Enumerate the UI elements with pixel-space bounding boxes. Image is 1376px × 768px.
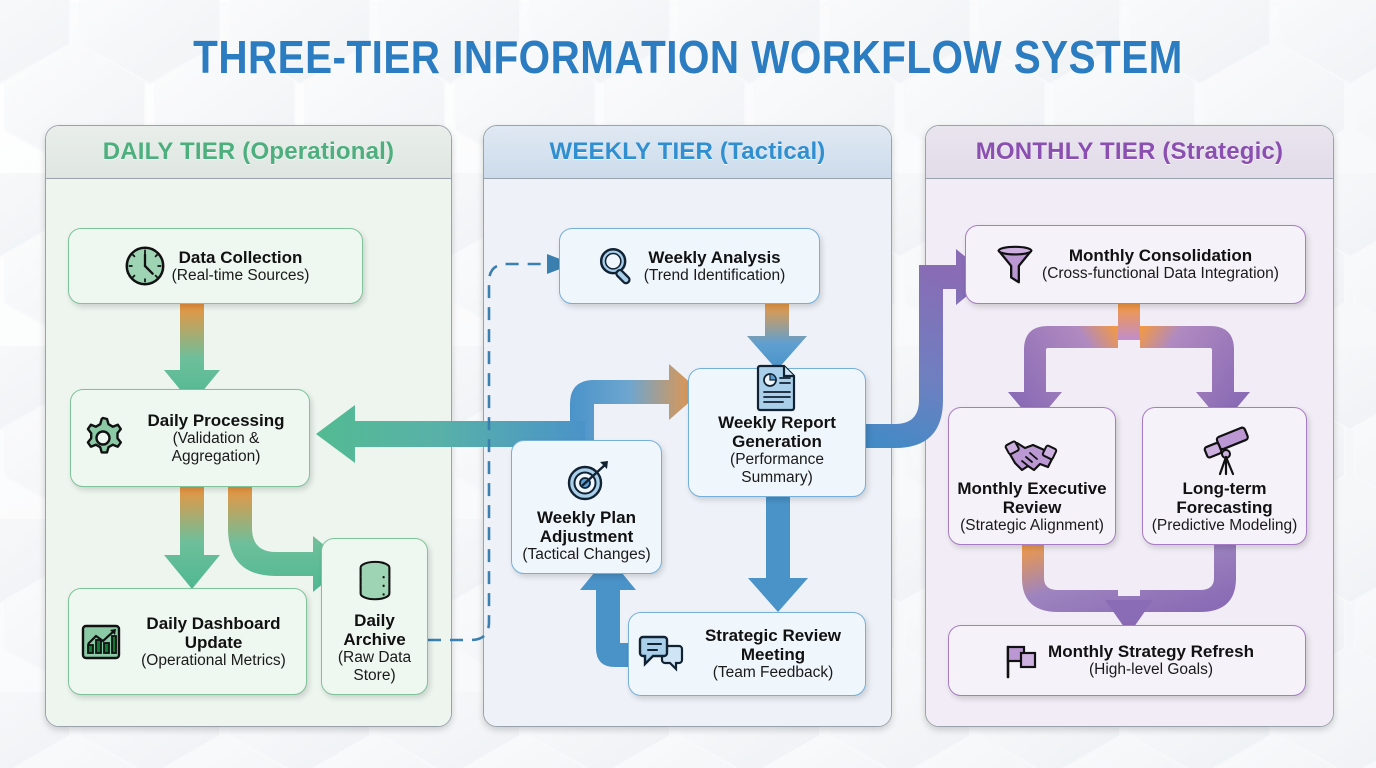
node-title: Daily Dashboard Update: [129, 614, 298, 652]
node-daily-dashboard[interactable]: Daily Dashboard Update (Operational Metr…: [68, 588, 307, 695]
flag-icon: [1000, 639, 1044, 683]
node-title: Monthly Consolidation: [1042, 246, 1279, 265]
node-title: Weekly Report Generation: [697, 413, 857, 451]
node-title: Monthly Executive Review: [957, 479, 1107, 517]
node-monthly-exec-review[interactable]: Monthly Executive Review (Strategic Alig…: [948, 407, 1116, 545]
node-long-term-forecasting[interactable]: Long-term Forecasting (Predictive Modeli…: [1142, 407, 1307, 545]
node-weekly-plan[interactable]: Weekly Plan Adjustment (Team Feedback) (…: [511, 440, 662, 574]
node-subtitle: (Strategic Alignment): [957, 517, 1107, 534]
node-subtitle: (Operational Metrics): [129, 652, 298, 669]
clock-icon: [122, 243, 168, 289]
node-subtitle: (Raw Data Store): [330, 649, 419, 684]
panel-weekly-header: WEEKLY TIER (Tactical): [484, 126, 891, 179]
node-title: Long-term Forecasting: [1151, 479, 1298, 517]
node-subtitle: (Cross-functional Data Integration): [1042, 265, 1279, 282]
node-subtitle: (Trend Identification): [644, 267, 786, 284]
panel-daily-header: DAILY TIER (Operational): [46, 126, 451, 179]
node-weekly-analysis[interactable]: Weekly Analysis (Trend Identification): [559, 228, 820, 304]
node-subtitle: (Validation & Aggregation): [131, 430, 301, 465]
node-subtitle: (Team Feedback): [689, 664, 857, 681]
node-title: Daily Processing: [131, 411, 301, 430]
handshake-icon: [1004, 435, 1060, 477]
node-daily-processing[interactable]: Daily Processing (Validation & Aggregati…: [70, 389, 310, 487]
node-strategic-review[interactable]: Strategic Review Meeting (Team Feedback): [628, 612, 866, 696]
node-title: Monthly Strategy Refresh: [1048, 642, 1254, 661]
bar-chart-icon: [77, 618, 125, 666]
node-subtitle: (Predictive Modeling): [1151, 517, 1298, 534]
node-title: Weekly Plan Adjustment: [520, 508, 653, 546]
page-title: THREE-TIER INFORMATION WORKFLOW SYSTEM: [83, 30, 1294, 84]
node-title: Daily Archive: [330, 611, 419, 649]
node-data-collection[interactable]: Data Collection (Real-time Sources): [68, 228, 363, 304]
node-subtitle: (Performance Summary): [697, 451, 857, 486]
panel-monthly-header: MONTHLY TIER (Strategic): [926, 126, 1333, 179]
telescope-icon: [1198, 433, 1252, 477]
node-title: Weekly Analysis: [644, 248, 786, 267]
database-icon: [352, 557, 398, 607]
gear-icon: [79, 414, 127, 462]
node-monthly-strategy[interactable]: Monthly Strategy Refresh (High-level Goa…: [948, 625, 1306, 696]
node-subtitle: (Tactical Changes): [520, 546, 653, 563]
funnel-icon: [992, 242, 1038, 288]
node-subtitle: (High-level Goals): [1048, 661, 1254, 678]
node-daily-archive[interactable]: Daily Archive (Raw Data Store): [321, 538, 428, 695]
magnifier-icon: [594, 243, 640, 289]
report-doc-icon: [755, 363, 799, 411]
node-weekly-report[interactable]: Weekly Report Generation (Performance Su…: [688, 368, 866, 497]
node-monthly-consolidation[interactable]: Monthly Consolidation (Cross-functional …: [965, 225, 1306, 304]
target-icon: [562, 458, 612, 506]
node-title: Strategic Review Meeting: [689, 626, 857, 664]
node-title: Data Collection: [172, 248, 310, 267]
chat-icon: [637, 632, 685, 676]
node-subtitle: (Real-time Sources): [172, 267, 310, 284]
